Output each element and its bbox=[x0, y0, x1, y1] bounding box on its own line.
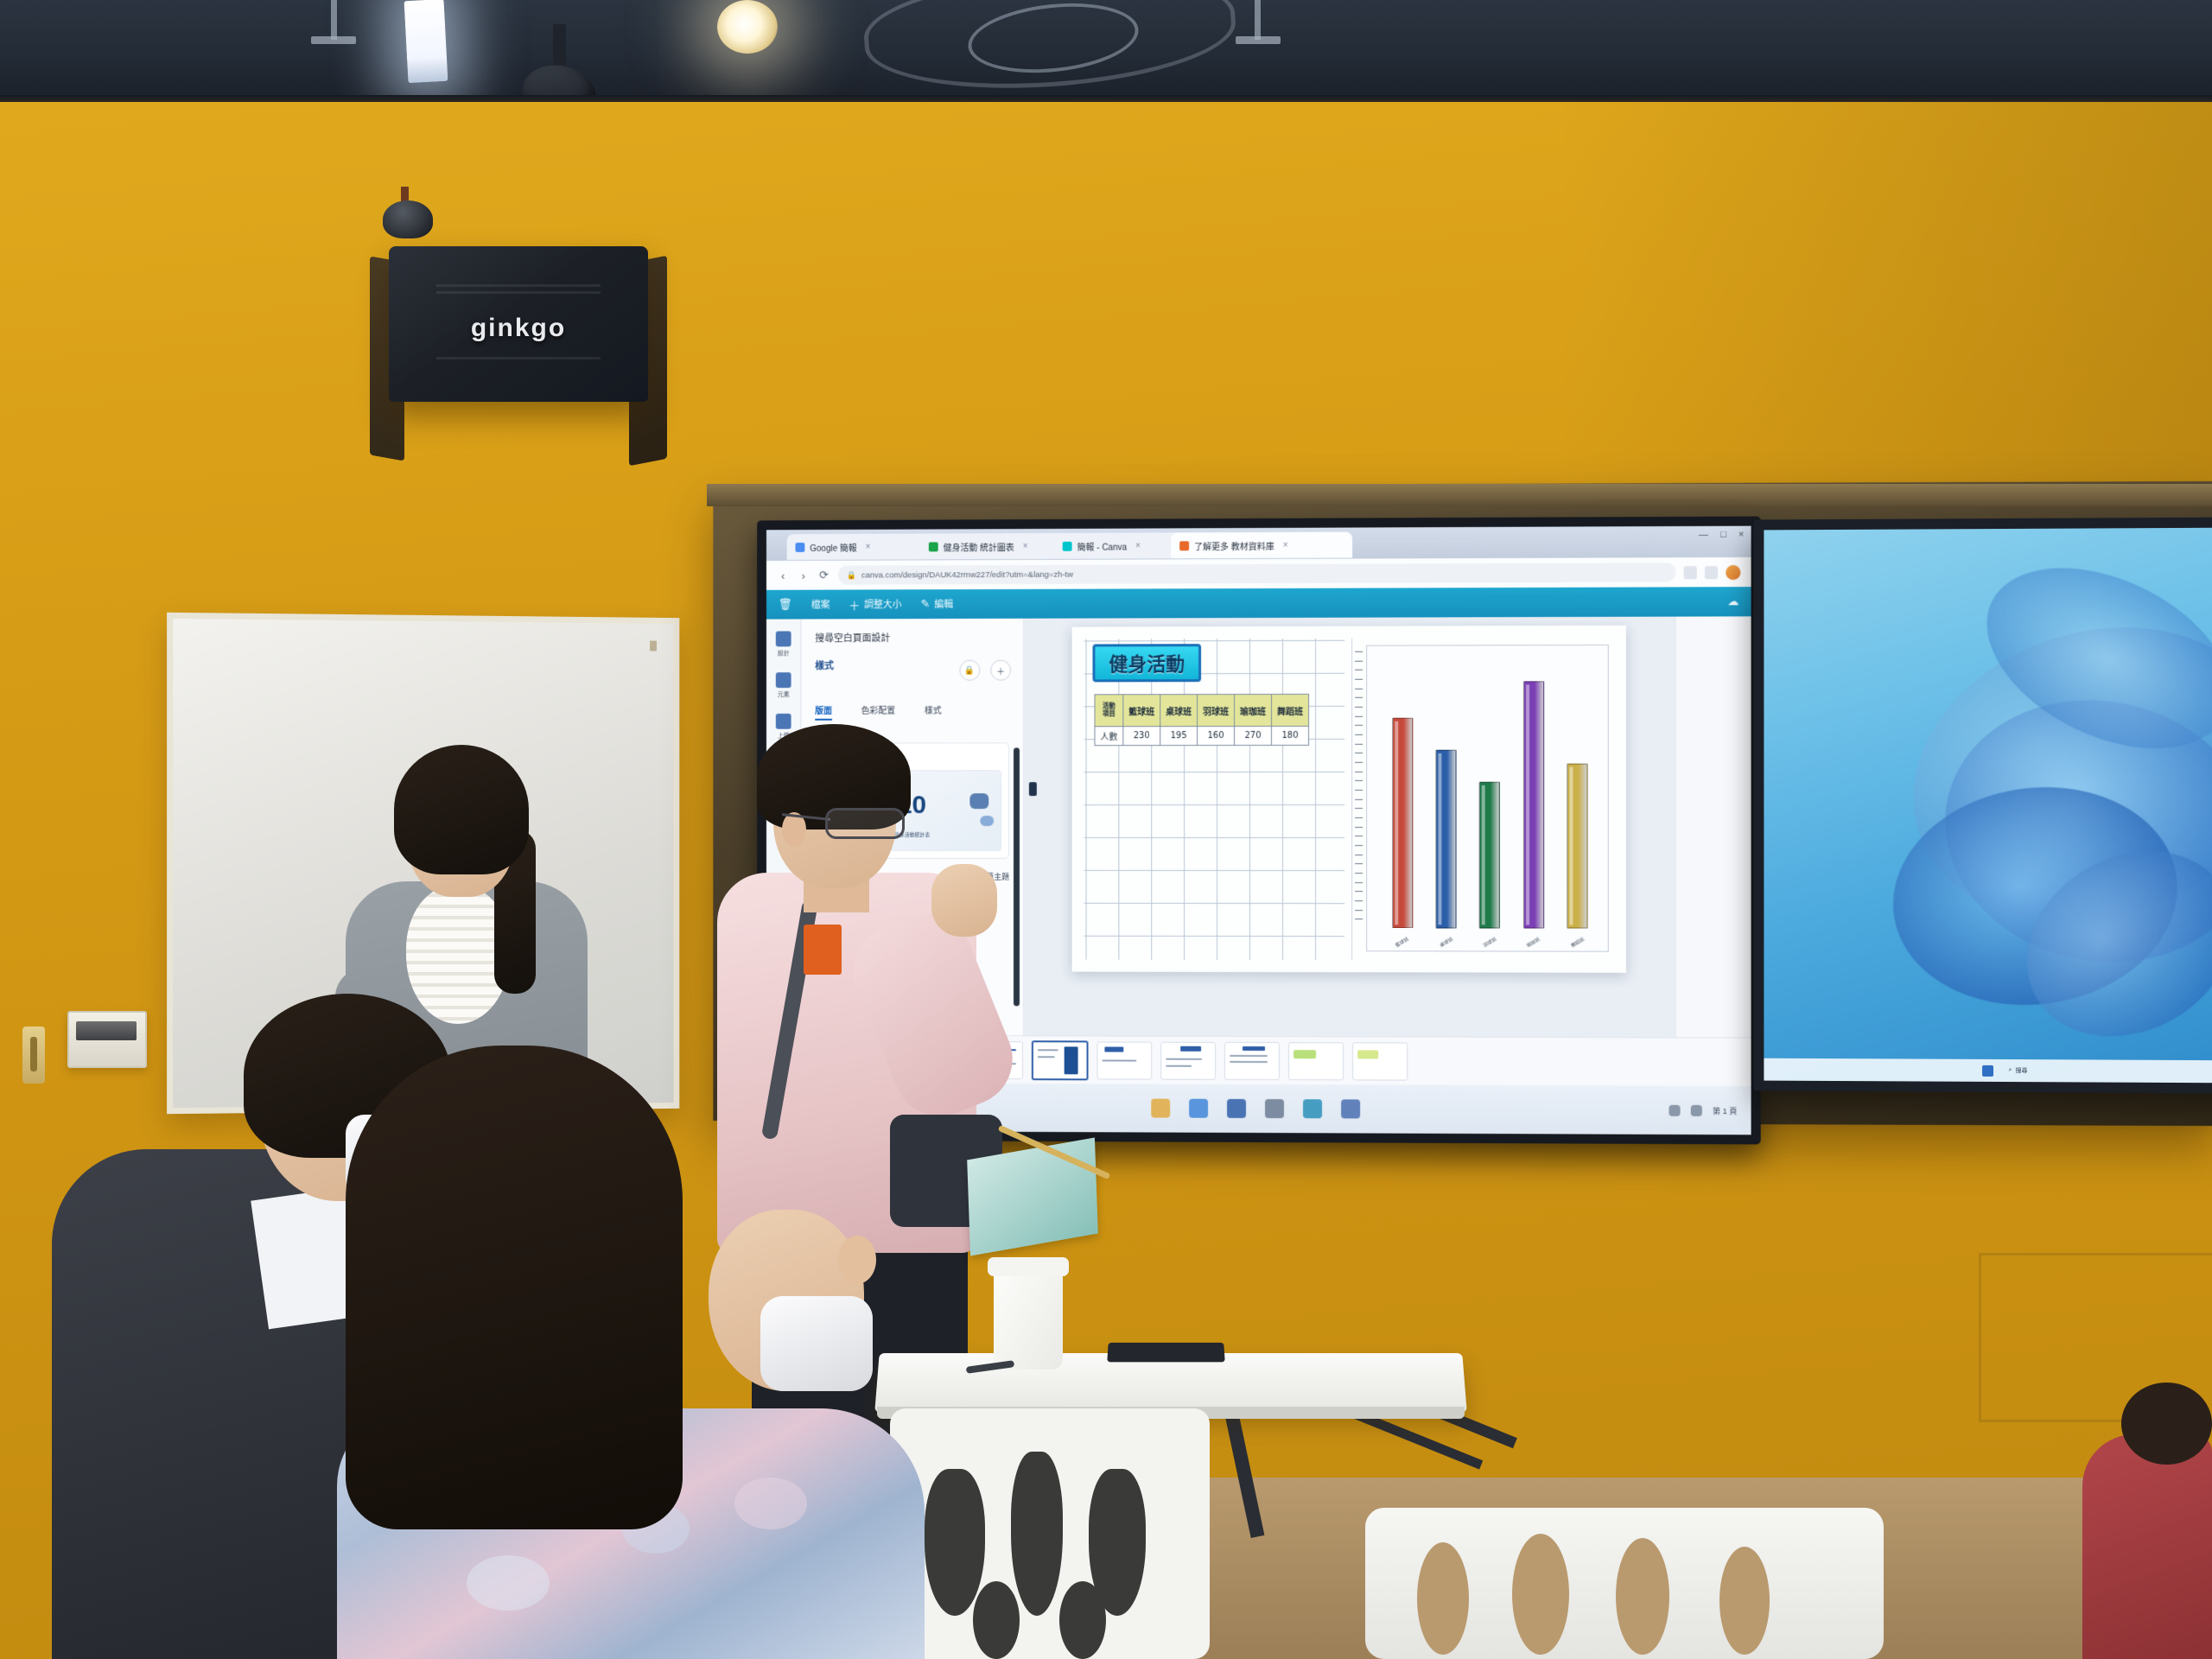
browser-tab[interactable]: 健身活動 統計圖表 × bbox=[920, 533, 1066, 560]
sidebar-item-elements-label: 元素 bbox=[778, 690, 790, 699]
seated-person-right-head bbox=[2121, 1382, 2212, 1465]
y-tick bbox=[1355, 762, 1363, 763]
bar-highlight bbox=[1569, 766, 1573, 925]
y-tick bbox=[1355, 799, 1363, 800]
wall-hook bbox=[22, 1027, 45, 1084]
tab-close-icon[interactable]: × bbox=[1135, 541, 1141, 550]
taskbar-clock: 第 1 頁 bbox=[1713, 1104, 1737, 1116]
tab-styles[interactable]: 樣式 bbox=[925, 703, 942, 721]
y-tick bbox=[1355, 697, 1363, 698]
data-table: 活動 項目 籃球班 桌球班 羽球班 瑜珈班 舞蹈班 bbox=[1094, 694, 1309, 746]
cloud-icon: ☁ bbox=[1727, 594, 1738, 608]
panel-title: 搜尋空白頁面設計 bbox=[815, 631, 1009, 645]
seated-woman-hair bbox=[346, 1046, 683, 1529]
x-tick-label: 桌球班 bbox=[1438, 936, 1453, 950]
app-toolbar-right: ☁ bbox=[1727, 594, 1738, 608]
smartphone bbox=[1107, 1343, 1224, 1363]
bar-highlight bbox=[1526, 685, 1529, 925]
trash-icon[interactable]: 🗑 bbox=[779, 598, 792, 612]
y-tick bbox=[1355, 817, 1363, 818]
track-rail-left bbox=[331, 0, 337, 40]
speaker-brand-label: ginkgo bbox=[389, 314, 648, 343]
bookmark-icon[interactable] bbox=[1705, 566, 1718, 579]
table-row: 人數 230 195 160 270 180 bbox=[1095, 726, 1309, 745]
taskbar-app2-icon[interactable] bbox=[1341, 1099, 1360, 1118]
y-tick bbox=[1355, 725, 1363, 726]
whiteboard-magnet bbox=[650, 641, 657, 652]
seated-person-right bbox=[2082, 1434, 2212, 1659]
glasses-icon bbox=[825, 808, 905, 839]
speaker-mount bbox=[374, 200, 442, 242]
taskbar-settings-icon[interactable] bbox=[1265, 1099, 1284, 1118]
bar-highlight bbox=[1395, 721, 1398, 925]
bar-chart: 籃球班桌球班羽球班瑜珈班舞蹈班 bbox=[1366, 645, 1609, 952]
minimize-icon[interactable]: — bbox=[1699, 530, 1708, 540]
extensions-icon[interactable] bbox=[1684, 566, 1697, 579]
track-rail-left-foot bbox=[311, 36, 356, 44]
address-text: canva.com/design/DAUK42rmw227/edit?utm=&… bbox=[861, 569, 1073, 580]
y-tick bbox=[1355, 863, 1363, 864]
y-tick bbox=[1355, 652, 1363, 652]
y-tick bbox=[1355, 882, 1363, 883]
tab-layout[interactable]: 版面 bbox=[815, 703, 832, 721]
track-rail-right-foot bbox=[1236, 36, 1281, 44]
display-housing-top bbox=[707, 484, 2212, 506]
maximize-icon[interactable]: □ bbox=[1720, 530, 1726, 540]
canvas-area: 健身活動 活動 項目 籃球班 桌球班 bbox=[1024, 617, 1675, 1038]
fluorescent-tube-light bbox=[404, 0, 448, 83]
browser-urlbar: ‹ › ⟳ 🔒 canva.com/design/DAUK42rmw227/ed… bbox=[766, 557, 1751, 590]
page-thumbnail[interactable] bbox=[1352, 1042, 1408, 1080]
resize-label: 調整大小 bbox=[864, 597, 902, 611]
chair-right bbox=[1365, 1508, 1884, 1659]
table-corner-bottom: 項目 bbox=[1100, 710, 1117, 718]
y-tick bbox=[1355, 780, 1363, 781]
tab-title: 健身活動 統計圖表 bbox=[944, 540, 1014, 553]
browser-tab[interactable]: Google 簡報 × bbox=[787, 534, 932, 560]
coffee-cup bbox=[994, 1266, 1063, 1370]
table-corner-header: 活動 項目 bbox=[1095, 695, 1123, 727]
windows-taskbar-right: ⌕ 搜尋 bbox=[1764, 1058, 2212, 1084]
x-tick-label: 舞蹈班 bbox=[1569, 936, 1585, 950]
table-cell: 230 bbox=[1123, 727, 1160, 746]
browser-tab-active[interactable]: 了解更多 教材資料庫 × bbox=[1171, 532, 1352, 559]
pencil-icon: ✎ bbox=[920, 597, 930, 611]
y-tick bbox=[1355, 873, 1363, 874]
y-tick bbox=[1355, 845, 1363, 846]
x-tick-label: 瑜珈班 bbox=[1525, 936, 1541, 950]
y-tick bbox=[1355, 734, 1363, 735]
y-tick bbox=[1355, 679, 1363, 680]
photo-scene: ginkgo Google 簡報 × 健身活動 統計圖表 × bbox=[0, 0, 2212, 1659]
slide-title: 健身活動 bbox=[1092, 644, 1201, 682]
file-menu[interactable]: 檔案 bbox=[811, 598, 830, 612]
y-tick bbox=[1355, 688, 1363, 689]
face-mask-icon bbox=[760, 1296, 873, 1391]
search-box[interactable]: ⌕ 搜尋 bbox=[2009, 1066, 2028, 1075]
browser-tabstrip: Google 簡報 × 健身活動 統計圖表 × 簡報 - Canva × 了解更… bbox=[766, 526, 1751, 561]
taskbar-explorer-icon[interactable] bbox=[1151, 1099, 1170, 1118]
search-icon: ⌕ bbox=[2009, 1067, 2012, 1074]
y-tick bbox=[1355, 855, 1363, 855]
table-header: 桌球班 bbox=[1160, 695, 1198, 727]
y-tick bbox=[1355, 753, 1363, 753]
taskbar-browser-icon[interactable] bbox=[1189, 1099, 1208, 1118]
table-header: 羽球班 bbox=[1198, 695, 1235, 727]
window-controls[interactable]: — □ × bbox=[1699, 530, 1745, 540]
canvas-resize-handle[interactable] bbox=[1029, 782, 1037, 796]
tab-title: 簡報 - Canva bbox=[1077, 539, 1128, 552]
wall-panel-screen bbox=[76, 1021, 137, 1040]
tab-title: Google 簡報 bbox=[810, 540, 856, 553]
panel-actions: 🔒 ＋ bbox=[960, 660, 1012, 681]
y-axis bbox=[1355, 652, 1365, 928]
right-rail bbox=[1675, 616, 1751, 1037]
avatar[interactable] bbox=[1726, 565, 1740, 580]
page-thumbnail[interactable] bbox=[1096, 1041, 1152, 1079]
presenter-fist bbox=[931, 864, 997, 937]
edit-button[interactable]: ✎ 編輯 bbox=[920, 597, 953, 611]
sidebar-item-elements[interactable] bbox=[776, 672, 791, 688]
sidebar-item-uploads[interactable] bbox=[776, 714, 791, 729]
slide-right-chart: 籃球班桌球班羽球班瑜珈班舞蹈班 bbox=[1351, 638, 1614, 961]
table-cell: 180 bbox=[1271, 726, 1308, 745]
search-label: 搜尋 bbox=[2015, 1066, 2027, 1075]
x-tick-label: 籃球班 bbox=[1395, 935, 1410, 949]
cup-lid bbox=[988, 1257, 1069, 1276]
y-tick bbox=[1355, 660, 1363, 661]
bar-1 bbox=[1392, 718, 1413, 928]
slide-left-grid: 健身活動 活動 項目 籃球班 桌球班 bbox=[1084, 639, 1344, 960]
bar-highlight bbox=[1438, 753, 1441, 925]
app-toolbar: 🗑 檔案 ＋ 調整大小 ✎ 編輯 ☁ bbox=[766, 587, 1751, 619]
forward-icon[interactable]: › bbox=[798, 569, 810, 582]
wall-speaker: ginkgo bbox=[389, 246, 648, 402]
y-tick bbox=[1355, 808, 1363, 809]
y-tick bbox=[1355, 772, 1363, 772]
plus-icon: ＋ bbox=[849, 596, 860, 613]
edit-label: 編輯 bbox=[934, 597, 953, 611]
taskbar-tray[interactable]: 第 1 頁 bbox=[1669, 1104, 1737, 1116]
track-rail-right bbox=[1255, 0, 1261, 40]
reload-icon[interactable]: ⟳ bbox=[817, 569, 830, 582]
y-tick bbox=[1355, 891, 1363, 892]
tab-favicon-icon bbox=[929, 542, 938, 551]
chair-front bbox=[890, 1408, 1210, 1659]
start-icon[interactable] bbox=[1982, 1065, 1993, 1076]
table-cell: 160 bbox=[1198, 727, 1235, 746]
tab-title: 了解更多 教材資料庫 bbox=[1194, 538, 1274, 551]
row-label: 人數 bbox=[1095, 727, 1123, 746]
y-tick bbox=[1355, 836, 1363, 836]
lock-icon: 🔒 bbox=[847, 570, 856, 580]
bar-series bbox=[1381, 656, 1599, 928]
table-header: 瑜珈班 bbox=[1235, 694, 1272, 726]
table-cell: 195 bbox=[1160, 727, 1198, 746]
close-window-icon[interactable]: × bbox=[1738, 530, 1745, 540]
tab-close-icon[interactable]: × bbox=[866, 542, 871, 551]
windows-wallpaper bbox=[1764, 528, 2212, 1084]
page-thumbnail[interactable] bbox=[1224, 1041, 1280, 1079]
tray-network-icon[interactable] bbox=[1669, 1104, 1680, 1116]
table-header: 籃球班 bbox=[1123, 695, 1160, 727]
tab-favicon-icon bbox=[1063, 541, 1072, 550]
standing-woman-hair bbox=[394, 745, 529, 874]
address-input[interactable]: 🔒 canva.com/design/DAUK42rmw227/edit?utm… bbox=[838, 563, 1676, 584]
bar-2 bbox=[1435, 750, 1456, 929]
lock-icon[interactable]: 🔒 bbox=[960, 660, 981, 681]
y-tick bbox=[1355, 715, 1363, 716]
add-icon[interactable]: ＋ bbox=[990, 660, 1011, 681]
sidebar-item-design[interactable] bbox=[776, 631, 791, 646]
y-tick bbox=[1355, 790, 1363, 791]
back-icon[interactable]: ‹ bbox=[777, 569, 790, 582]
tab-favicon-icon bbox=[1179, 541, 1189, 550]
resize-button[interactable]: ＋ 調整大小 bbox=[849, 596, 901, 613]
bar-highlight bbox=[1482, 785, 1485, 925]
tab-favicon-icon bbox=[796, 543, 805, 552]
sidebar-item-design-label: 設計 bbox=[778, 649, 790, 658]
bar-5 bbox=[1567, 763, 1587, 928]
taskbar-app-icon[interactable] bbox=[1303, 1099, 1322, 1118]
table-header: 舞蹈班 bbox=[1271, 694, 1308, 726]
y-tick bbox=[1355, 900, 1363, 901]
tab-close-icon[interactable]: × bbox=[1023, 542, 1028, 551]
y-tick bbox=[1355, 707, 1363, 708]
slide-canvas[interactable]: 健身活動 活動 項目 籃球班 桌球班 bbox=[1072, 626, 1626, 973]
page-thumbnail[interactable] bbox=[1032, 1040, 1089, 1080]
presenter-badge bbox=[804, 925, 842, 975]
y-tick bbox=[1355, 827, 1363, 828]
y-tick bbox=[1355, 910, 1363, 911]
y-tick bbox=[1355, 918, 1363, 919]
bar-4 bbox=[1523, 682, 1544, 929]
table-cell: 270 bbox=[1235, 726, 1272, 745]
bar-3 bbox=[1479, 781, 1500, 928]
y-tick bbox=[1355, 670, 1363, 671]
page-thumbnail[interactable] bbox=[1160, 1041, 1216, 1079]
taskbar-mail-icon[interactable] bbox=[1227, 1099, 1246, 1118]
y-tick bbox=[1355, 744, 1363, 745]
x-axis-labels: 籃球班桌球班羽球班瑜珈班舞蹈班 bbox=[1381, 938, 1599, 945]
browser-tab[interactable]: 簡報 - Canva × bbox=[1054, 532, 1183, 559]
tab-close-icon[interactable]: × bbox=[1283, 540, 1288, 550]
wall-control-panel[interactable] bbox=[67, 1011, 147, 1068]
panel-tabs: 版面 色彩配置 樣式 bbox=[815, 702, 1009, 720]
tray-volume-icon[interactable] bbox=[1691, 1104, 1702, 1116]
ceiling-spotlight bbox=[717, 0, 778, 54]
seated-woman-ear bbox=[838, 1236, 876, 1284]
x-tick-label: 羽球班 bbox=[1482, 936, 1497, 950]
desktop-display-right[interactable]: ⌕ 搜尋 bbox=[1754, 517, 2212, 1093]
panel-scrollbar[interactable] bbox=[1014, 747, 1020, 1006]
page-thumbnail[interactable] bbox=[1288, 1042, 1344, 1080]
tab-colors[interactable]: 色彩配置 bbox=[861, 703, 896, 721]
